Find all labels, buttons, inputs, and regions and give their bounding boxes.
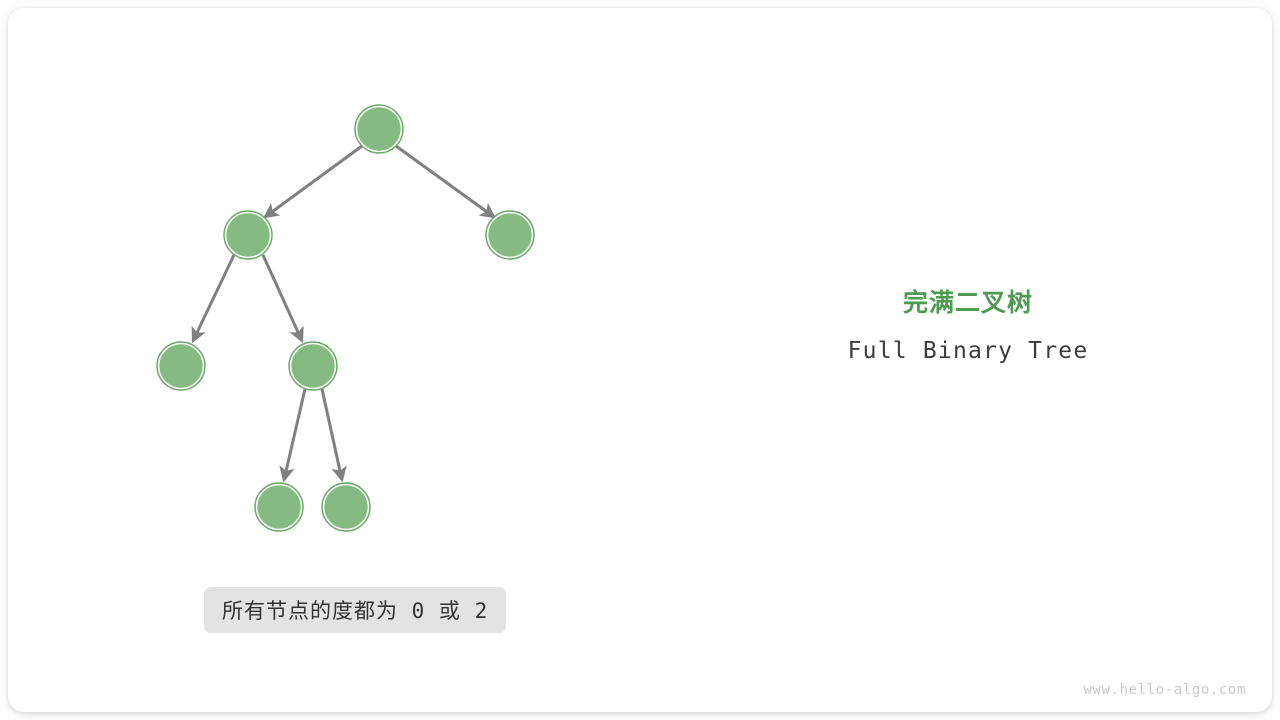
edge-n5-n7: [322, 389, 342, 480]
edge-n1-n2: [265, 146, 362, 217]
tree-type-label: 完满二叉树 Full Binary Tree: [768, 288, 1168, 365]
tree-node-root[interactable]: [355, 105, 403, 153]
tree-node-right-1[interactable]: [486, 211, 534, 259]
tree-node-leaf-bottom-right[interactable]: [322, 483, 370, 531]
screenshot-canvas: 完满二叉树 Full Binary Tree 所有节点的度都为 0 或 2 ww…: [0, 0, 1280, 720]
tree-node-left-1[interactable]: [224, 211, 272, 259]
tree-node-leaf-left[interactable]: [157, 342, 205, 390]
tree-node-mid[interactable]: [289, 342, 337, 390]
tree-node-leaf-bottom-left[interactable]: [255, 483, 303, 531]
watermark-text: www.hello-algo.com: [1083, 682, 1246, 698]
title-chinese: 完满二叉树: [768, 288, 1168, 318]
edge-n2-n4: [193, 255, 234, 341]
title-english: Full Binary Tree: [768, 337, 1168, 365]
tree-nodes: [157, 105, 534, 531]
diagram-caption: 所有节点的度都为 0 或 2: [204, 587, 506, 633]
edge-n2-n5: [263, 255, 302, 341]
edge-n1-n3: [396, 146, 494, 217]
edge-n5-n6: [284, 389, 305, 480]
tree-edges: [193, 146, 494, 480]
